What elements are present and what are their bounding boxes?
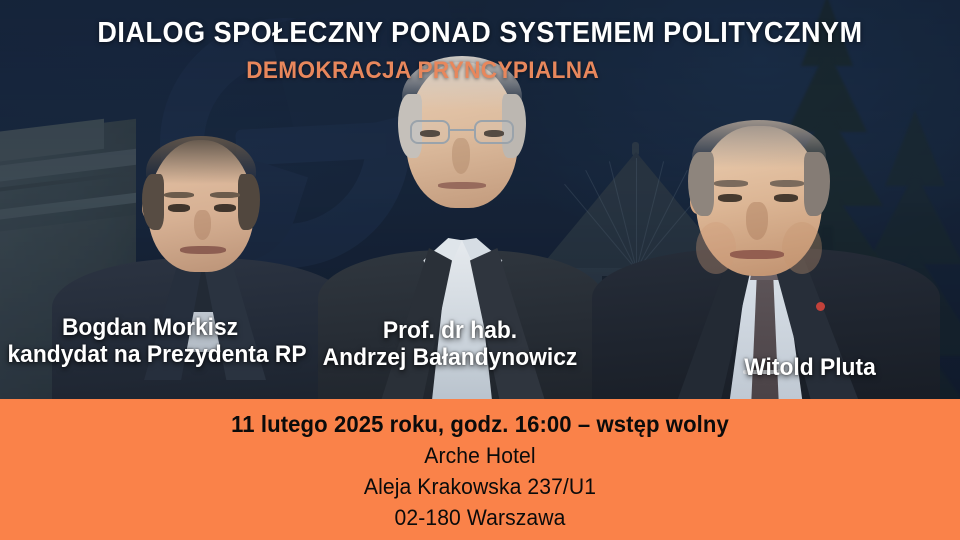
hair-side-right <box>238 174 260 230</box>
lapel-pin-icon <box>816 302 825 311</box>
caption-line-name: Bogdan Morkisz <box>8 315 293 342</box>
mouth <box>730 250 784 259</box>
hero-photo-area: DIALOG SPOŁECZNY PONAD SYSTEMEM POLITYCZ… <box>0 0 960 399</box>
hair-side-left <box>688 152 714 216</box>
eye-left <box>168 204 190 212</box>
event-datetime-line: 11 lutego 2025 roku, godz. 16:00 – wstęp… <box>19 399 941 440</box>
page-title: DIALOG SPOŁECZNY PONAD SYSTEMEM POLITYCZ… <box>34 17 927 50</box>
eye-right <box>774 194 798 202</box>
cheek-left <box>696 222 736 274</box>
caption-witold-pluta: Witold Pluta <box>668 355 953 382</box>
eyebrow-left <box>714 180 748 187</box>
caption-line-name: Andrzej Bałandynowicz <box>308 345 593 372</box>
eyebrow-right <box>770 180 804 187</box>
event-info-banner: 11 lutego 2025 roku, godz. 16:00 – wstęp… <box>0 399 960 540</box>
caption-line-title: Prof. dr hab. <box>308 318 593 345</box>
hair-side-left <box>142 174 164 230</box>
eye-left <box>718 194 742 202</box>
eyeglass-lens-left <box>410 120 450 144</box>
caption-line-role: kandydat na Prezydenta RP <box>8 342 293 369</box>
eyebrow-left <box>164 192 194 198</box>
event-venue-line: Arche Hotel <box>19 440 941 471</box>
cheek-right <box>782 222 822 274</box>
nose <box>746 202 768 240</box>
caption-line-name: Witold Pluta <box>668 355 953 382</box>
event-city-line: 02-180 Warszawa <box>19 502 941 533</box>
nose <box>194 210 211 240</box>
hair-side-right <box>804 152 830 216</box>
mouth <box>438 182 486 189</box>
event-street-line: Aleja Krakowska 237/U1 <box>19 471 941 502</box>
eye-right <box>214 204 236 212</box>
mouth <box>180 246 226 254</box>
eyebrow-right <box>210 192 240 198</box>
caption-andrzej-balandynowicz: Prof. dr hab. Andrzej Bałandynowicz <box>308 318 593 372</box>
eyeglass-lens-right <box>474 120 514 144</box>
page-subtitle: DEMOKRACJA PRYNCYPIALNA <box>29 57 931 85</box>
eyeglass-bridge <box>450 129 474 131</box>
caption-bogdan-morkisz: Bogdan Morkisz kandydat na Prezydenta RP <box>8 315 293 369</box>
event-poster: DIALOG SPOŁECZNY PONAD SYSTEMEM POLITYCZ… <box>0 0 960 540</box>
nose <box>452 138 470 174</box>
